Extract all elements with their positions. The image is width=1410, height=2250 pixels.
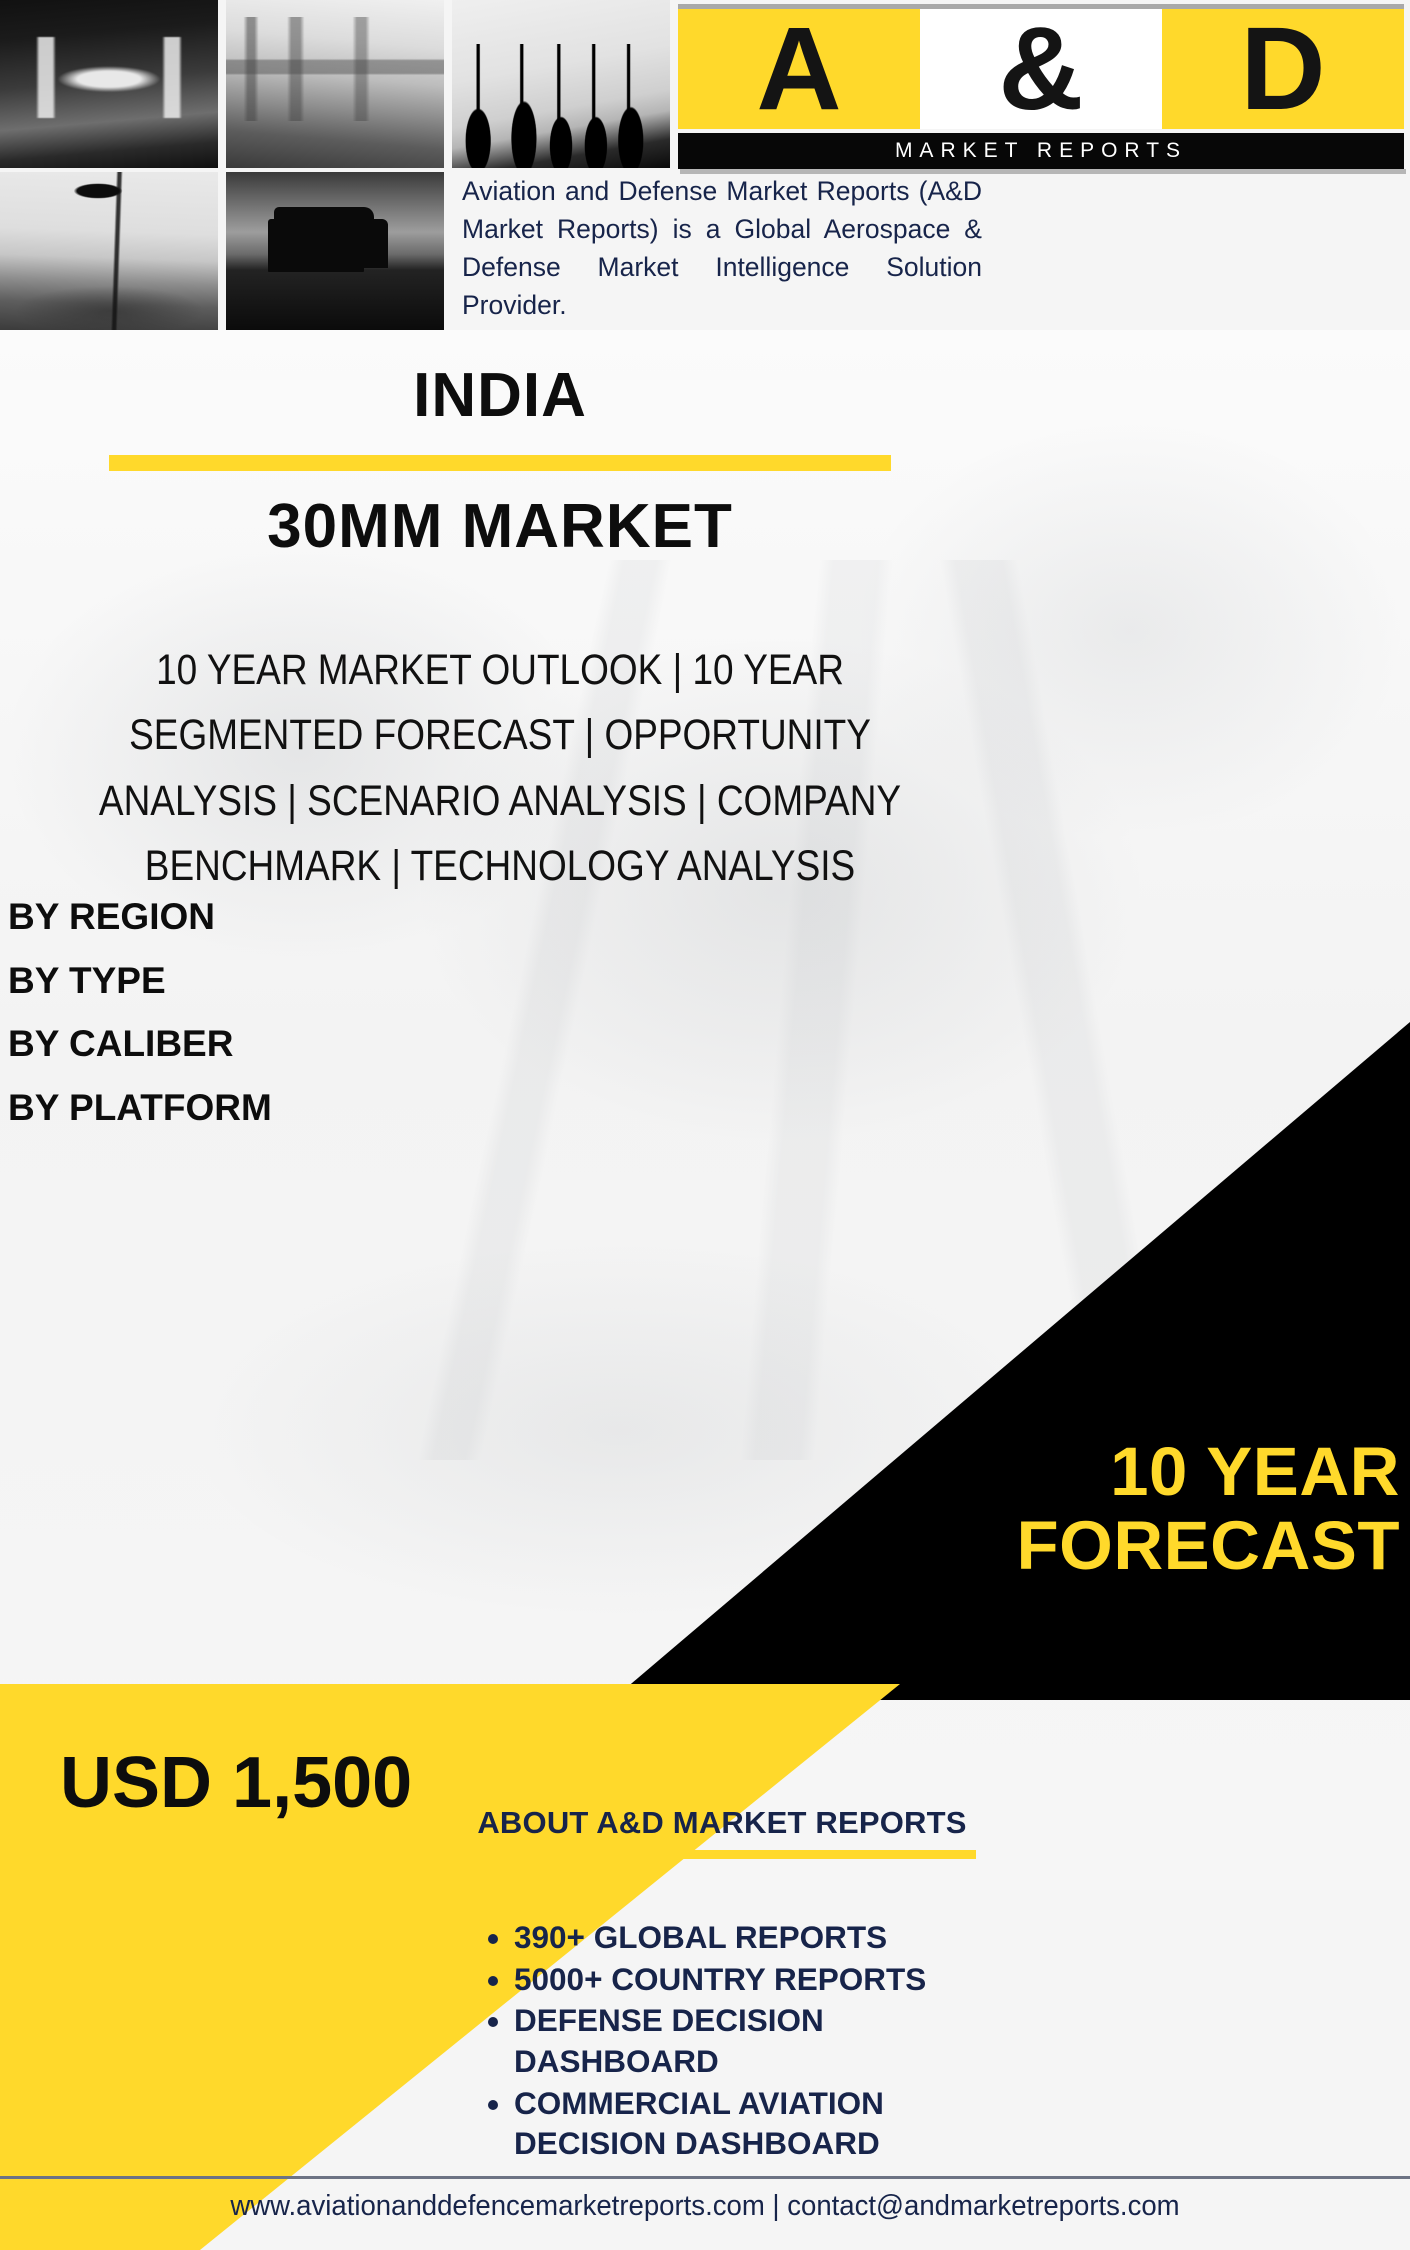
helicopter-photo (0, 172, 218, 330)
about-bullet-list: 390+ GLOBAL REPORTS 5000+ COUNTRY REPORT… (462, 1917, 982, 2164)
poster-root: A & D MARKET REPORTS Aviation and Defens… (0, 0, 1410, 2250)
report-title: 30MM MARKET (0, 491, 1000, 562)
footer-contact: www.aviationanddefencemarketreports.com … (35, 2190, 1375, 2223)
forecast-callout: 10 YEAR FORECAST (600, 1435, 1400, 1583)
report-title-block: INDIA 30MM MARKET (0, 360, 1000, 562)
logo-tagline: MARKET REPORTS (678, 133, 1404, 169)
segment-item: BY CALIBER (8, 1012, 528, 1076)
report-features-text: 10 YEAR MARKET OUTLOOK | 10 YEAR SEGMENT… (96, 638, 904, 899)
segment-item: BY PLATFORM (8, 1076, 528, 1140)
about-heading: ABOUT A&D MARKET REPORTS (462, 1805, 982, 1841)
about-bullet-item: 5000+ COUNTRY REPORTS (514, 1959, 982, 2000)
aircraft-carrier-photo (226, 0, 444, 168)
segment-item: BY REGION (8, 885, 528, 949)
logo-letter-ampersand: & (920, 9, 1162, 129)
brand-logo: A & D MARKET REPORTS (678, 4, 1404, 176)
about-bullet-item: COMMERCIAL AVIATION DECISION DASHBOARD (514, 2083, 982, 2164)
segment-item: BY TYPE (8, 949, 528, 1013)
report-country: INDIA (0, 360, 1000, 431)
forecast-line-1: 10 YEAR (600, 1435, 1400, 1509)
logo-letter-a: A (678, 9, 920, 129)
about-section: ABOUT A&D MARKET REPORTS 390+ GLOBAL REP… (462, 1805, 982, 2165)
about-bullet-item: 390+ GLOBAL REPORTS (514, 1917, 982, 1958)
armored-vehicle-photo (226, 172, 444, 330)
soldiers-silhouette-photo (452, 0, 670, 168)
about-bullet-item: DEFENSE DECISION DASHBOARD (514, 2000, 982, 2081)
about-divider (468, 1850, 976, 1859)
fighter-jet-photo (0, 0, 218, 168)
footer-divider (0, 2176, 1410, 2179)
segmentation-list: BY REGION BY TYPE BY CALIBER BY PLATFORM (8, 885, 528, 1140)
logo-letter-d: D (1162, 9, 1404, 129)
title-divider (109, 455, 891, 471)
company-intro-text: Aviation and Defense Market Reports (A&D… (462, 172, 982, 325)
forecast-line-2: FORECAST (600, 1509, 1400, 1583)
logo-letter-cells: A & D (678, 9, 1404, 129)
